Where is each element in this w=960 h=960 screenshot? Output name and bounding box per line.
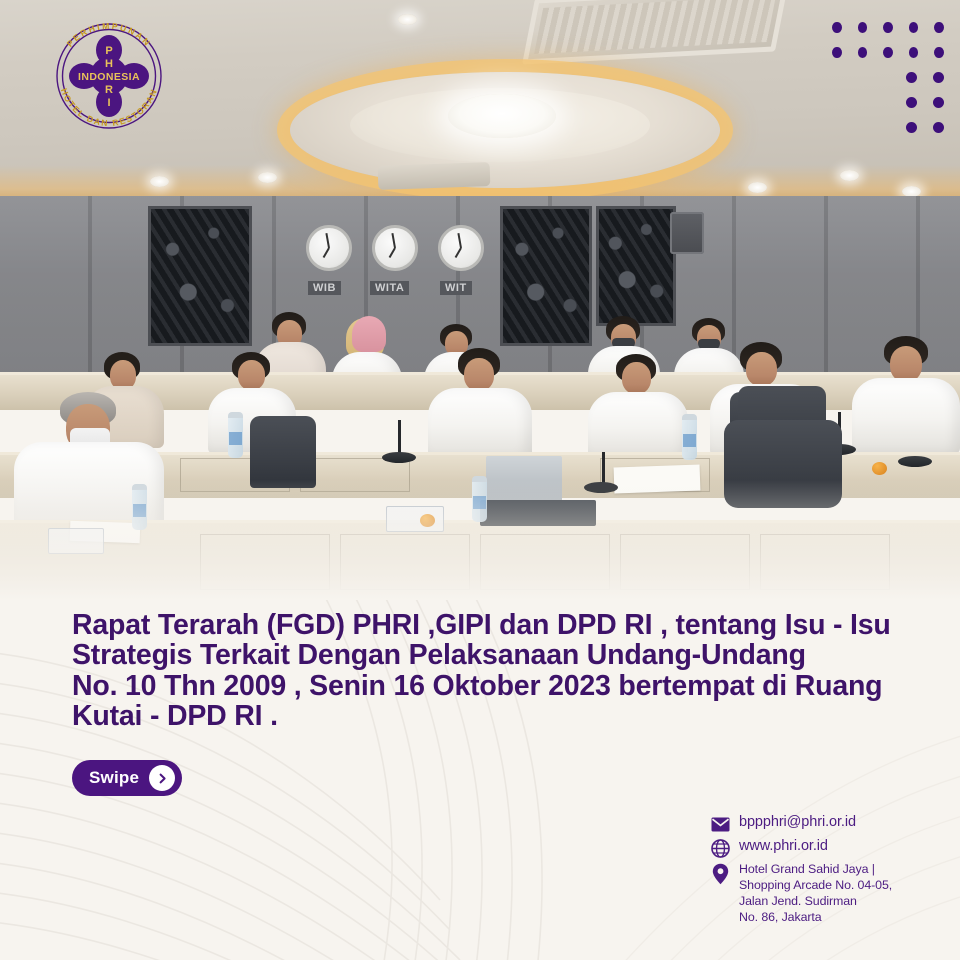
decorative-dot	[906, 97, 917, 108]
wall-speaker	[670, 212, 704, 254]
phri-logo: PERHIMPUNAN HOTEL DAN RESTORAN P H R I I…	[46, 14, 172, 138]
ceiling-light	[448, 94, 556, 138]
contact-website-row[interactable]: www.phri.or.id	[710, 838, 940, 858]
dot-row	[832, 122, 944, 133]
decorative-dot	[934, 47, 944, 58]
decorative-dot	[909, 22, 919, 33]
website-value: www.phri.or.id	[739, 838, 828, 855]
clock-label-wit: WIT	[440, 281, 472, 295]
downlight	[748, 182, 767, 193]
downlight	[840, 170, 859, 181]
microphone-base	[898, 456, 932, 467]
wall-clocks: WIB WITA WIT	[300, 225, 490, 305]
decorative-dot	[883, 22, 893, 33]
chair	[250, 416, 316, 488]
decorative-dot	[933, 97, 944, 108]
decorative-dot	[832, 22, 842, 33]
swipe-label: Swipe	[89, 768, 139, 788]
decorative-dot	[906, 122, 917, 133]
social-card: WIB WITA WIT	[0, 0, 960, 960]
decorative-carved-panel	[596, 206, 676, 326]
decorative-dot	[858, 47, 868, 58]
email-value: bppphri@phri.or.id	[739, 814, 856, 831]
contact-address-row: Hotel Grand Sahid Jaya | Shopping Arcade…	[710, 862, 940, 926]
clock-label-wib: WIB	[308, 281, 341, 295]
photo-fade	[0, 480, 960, 600]
decorative-carved-panel	[500, 206, 592, 346]
decorative-carved-panel	[148, 206, 252, 346]
decorative-dot	[934, 22, 944, 33]
downlight	[150, 176, 169, 187]
microphone	[398, 420, 401, 456]
decorative-dot	[933, 72, 944, 83]
dot-row	[832, 72, 944, 83]
microphone-base	[382, 452, 416, 463]
address-value: Hotel Grand Sahid Jaya | Shopping Arcade…	[739, 862, 892, 926]
clock-label-wita: WITA	[370, 281, 409, 295]
headline-text: Rapat Terarah (FGD) PHRI ,GIPI dan DPD R…	[72, 610, 902, 732]
globe-icon	[710, 838, 730, 858]
svg-text:I: I	[107, 97, 110, 109]
svg-text:P: P	[105, 45, 112, 57]
dot-row	[832, 47, 944, 58]
dot-row	[832, 22, 944, 33]
decorative-dot	[909, 47, 919, 58]
decorative-dot	[832, 47, 842, 58]
water-bottle	[682, 414, 697, 460]
contact-block: bppphri@phri.or.id www.phri.or.id	[710, 814, 940, 930]
decorative-dot	[933, 122, 944, 133]
contact-email-row[interactable]: bppphri@phri.or.id	[710, 814, 940, 834]
svg-text:H: H	[105, 58, 113, 70]
map-pin-icon	[710, 864, 730, 884]
swipe-button[interactable]: Swipe	[72, 760, 182, 796]
dot-row	[832, 97, 944, 108]
decorative-dot	[858, 22, 868, 33]
water-bottle	[228, 412, 243, 458]
decorative-dot	[883, 47, 893, 58]
decorative-dot	[906, 72, 917, 83]
downlight	[398, 14, 417, 25]
svg-text:INDONESIA: INDONESIA	[78, 71, 140, 83]
envelope-icon	[710, 814, 730, 834]
svg-text:R: R	[105, 84, 113, 96]
dot-grid	[832, 22, 944, 147]
projector	[378, 162, 491, 190]
snack	[872, 462, 887, 475]
downlight	[258, 172, 277, 183]
chevron-right-icon	[149, 765, 175, 791]
